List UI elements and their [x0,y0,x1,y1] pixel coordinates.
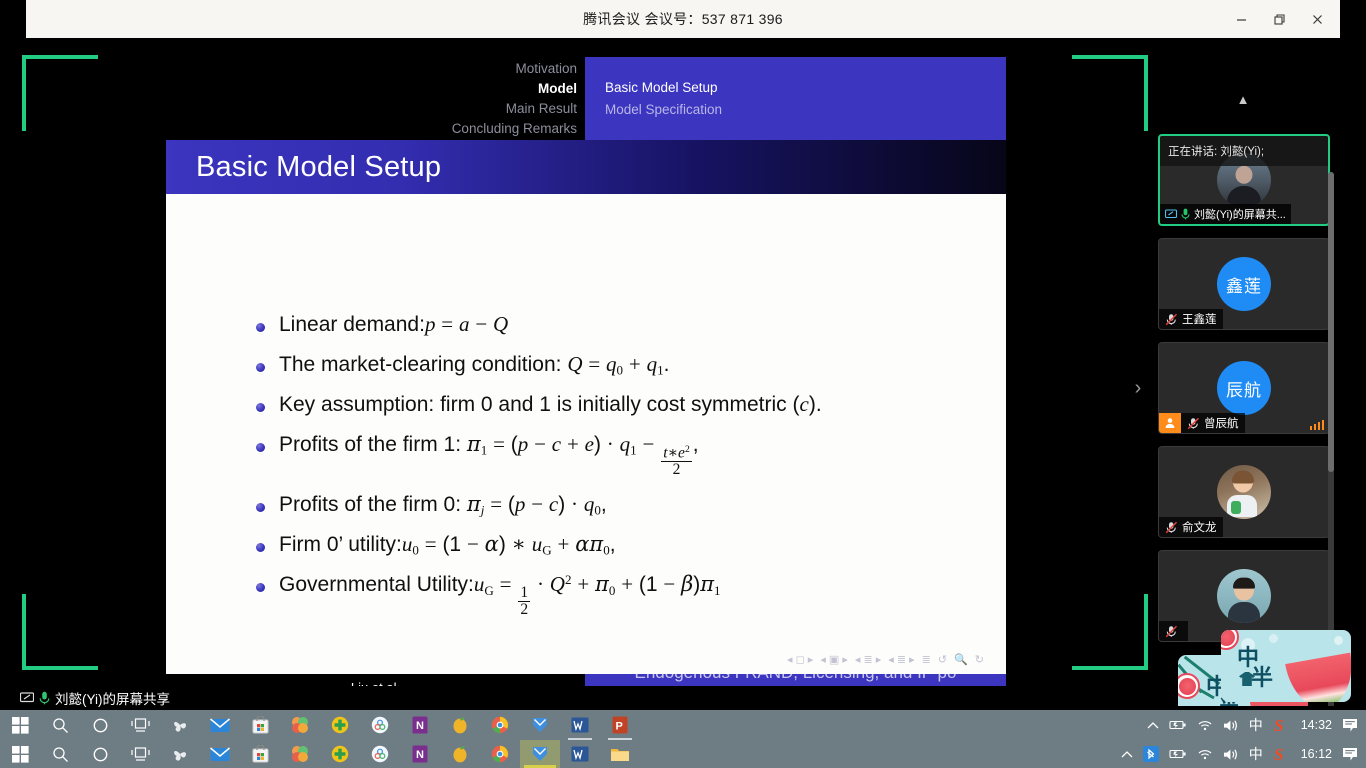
bullet-dot-icon [256,583,265,592]
avatar-initials: 辰航 [1226,376,1262,401]
nav-prev-slide-icon[interactable]: ◂ ≣ ▸ [855,653,881,666]
slide-body: Linear demand:p = a − Q The market-clear… [166,194,1006,674]
slide-navigation-header: Motivation Model Main Result Concluding … [166,57,1006,140]
wifi-icon[interactable] [1197,719,1213,731]
search-icon[interactable] [40,740,80,768]
nav-search-icon[interactable]: 🔍 [954,653,968,666]
start-button-icon[interactable] [0,740,40,768]
participant-tile-5[interactable] [1158,550,1330,642]
slide-section-nav: Motivation Model Main Result Concluding … [166,57,585,140]
speaking-toast-text: 正在讲话: 刘懿(Yi); [1168,143,1264,159]
list-item: Linear demand:p = a − Q [256,312,986,338]
bullet-dot-icon [256,443,265,452]
bullet-text-7: Governmental Utility:uG = 12 · Q2 + π0 +… [279,572,721,618]
bullet-text-6: Firm 0’ utility:u0 = (1 − α) ∗ uG + απ0, [279,532,616,558]
participant-name: 曾辰航 [1204,415,1239,431]
plus-app-icon[interactable] [320,740,360,768]
bullet-dot-icon [256,323,265,332]
photos-app-icon[interactable] [280,740,320,768]
promo-close-icon[interactable] [1334,636,1343,645]
participant-name-bar: 王鑫莲 [1159,309,1223,329]
microphone-icon [1181,208,1190,220]
start-button-icon[interactable] [0,710,40,740]
mango-app-icon[interactable] [440,740,480,768]
avatar-initials: 鑫莲 [1226,272,1262,297]
screen-share-icon [1165,209,1177,220]
microphone-muted-icon [1165,521,1178,534]
participant-name-bar: 俞文龙 [1159,517,1223,537]
nav-item-main-result[interactable]: Main Result [506,99,577,118]
nav-item-concluding-remarks[interactable]: Concluding Remarks [452,119,577,138]
nav-forward-icon[interactable]: ↻ [975,653,984,666]
tray-chevron-up-icon[interactable] [1121,750,1133,759]
list-item: Firm 0’ utility:u0 = (1 − α) ∗ uG + απ0, [256,532,986,558]
atom-app-icon[interactable] [360,710,400,740]
watermelon-graphic [1285,653,1351,702]
slide-title-bar: Basic Model Setup [166,140,1006,194]
screen-share-banner-text: 刘懿(Yi)的屏幕共享 [55,688,170,708]
volume-icon[interactable] [1223,748,1239,761]
sogou-ime-icon[interactable]: S [1273,745,1291,763]
participant-tile-4[interactable]: 俞文龙 [1158,446,1330,538]
window-title-bar: 腾讯会议 会议号：537 871 396 [26,0,1340,38]
speaking-toast: 正在讲话: 刘懿(Yi); [1160,136,1328,166]
outer-system-tray: 中 S 16:12 [1121,740,1366,768]
microphone-muted-icon [1165,625,1178,638]
onenote-app-icon[interactable]: N [400,710,440,740]
window-title: 腾讯会议 会议号：537 871 396 [583,9,783,29]
microphone-muted-icon [1165,313,1178,326]
bullet-dot-icon [256,543,265,552]
outer-taskbar: N [0,740,1366,768]
word-app-icon[interactable] [560,740,600,768]
slide-bullet-list: Linear demand:p = a − Q The market-clear… [256,312,986,632]
chrome-app-icon[interactable] [480,710,520,740]
outer-taskbar-icons: N [0,740,640,768]
volume-icon[interactable] [1223,719,1239,732]
microphone-icon [39,691,50,705]
bullet-text-3: Key assumption: firm 0 and 1 is initiall… [279,392,822,418]
participant-name-bar: 曾辰航 [1181,413,1245,433]
fan-app-icon[interactable] [160,740,200,768]
notifications-icon[interactable] [1342,747,1358,762]
close-icon[interactable] [1298,0,1336,38]
task-view-icon[interactable] [120,710,160,740]
chrome-app-icon[interactable] [480,740,520,768]
avatar: 鑫莲 [1217,257,1271,311]
inner-taskbar-icons: N P [0,710,640,740]
list-item: Key assumption: firm 0 and 1 is initiall… [256,392,986,418]
bullet-dot-icon [256,403,265,412]
avatar [1217,465,1271,519]
inner-taskbar: N P [0,710,1366,740]
nav-item-basic-model-setup[interactable]: Basic Model Setup [605,78,1006,97]
participant-name-bar [1159,621,1188,641]
onenote-app-icon[interactable]: N [400,740,440,768]
store-app-icon[interactable] [240,710,280,740]
store-app-icon[interactable] [240,740,280,768]
microphone-muted-icon [1187,417,1200,430]
atom-app-icon[interactable] [360,740,400,768]
inner-clock[interactable]: 14:32 [1301,718,1332,732]
share-frame-corner-topleft [22,55,98,131]
scroll-up-icon[interactable]: ▲ [1150,86,1336,112]
bullet-text-4: Profits of the firm 1: π1 = (p − c + e) … [279,432,699,478]
screen: 腾讯会议 会议号：537 871 396 [0,0,1366,768]
battery-icon[interactable] [1169,748,1187,760]
nav-first-icon[interactable]: ◂ ◻ ▸ [787,653,813,666]
inner-system-tray: 中 S 14:32 [1147,710,1366,740]
svg-text:S: S [1274,716,1283,734]
chevron-right-icon[interactable]: › [1128,368,1148,408]
participant-tile-2[interactable]: 鑫莲 王鑫莲 [1158,238,1330,330]
participant-rail: ▲ 正在讲话: 刘懿(Yi); [1150,76,1366,706]
share-frame-corner-bottomleft [22,594,98,670]
notifications-icon[interactable] [1342,718,1358,733]
nav-back-icon[interactable]: ↺ [938,653,947,666]
ime-indicator[interactable]: 中 [1249,715,1263,735]
svg-text:P: P [616,721,623,733]
restore-icon[interactable] [1260,0,1298,38]
list-item: Profits of the firm 1: π1 = (p − c + e) … [256,432,986,478]
ime-indicator[interactable]: 中 [1249,744,1263,764]
outer-clock[interactable]: 16:12 [1301,747,1332,761]
participant-name: 俞文龙 [1182,519,1217,535]
list-item: The market-clearing condition: Q = q0 + … [256,352,986,378]
meeting-canvas: Motivation Model Main Result Concluding … [0,38,1366,706]
nav-prev-frame-icon[interactable]: ◂ ▣ ▸ [820,653,848,666]
nav-next-slide-icon[interactable]: ◂ ≣ ▸ [888,653,914,666]
task-view-icon[interactable] [120,740,160,768]
svg-text:N: N [416,720,424,732]
wifi-icon[interactable] [1197,748,1213,760]
bluetooth-icon[interactable] [1143,746,1159,762]
shared-slide: Motivation Model Main Result Concluding … [166,57,1006,700]
mail-app-icon[interactable] [200,740,240,768]
host-badge-icon [1159,413,1181,433]
avatar [1217,569,1271,623]
foxmail-app-icon[interactable] [520,710,560,740]
tray-chevron-up-icon[interactable] [1147,721,1159,730]
powerpoint-app-icon[interactable]: P [600,710,640,740]
share-frame-corner-topright [1072,55,1148,131]
bullet-dot-icon [256,503,265,512]
bullet-dot-icon [256,363,265,372]
fan-app-icon[interactable] [160,710,200,740]
beamer-nav-icons[interactable]: ◂ ◻ ▸ ◂ ▣ ▸ ◂ ≣ ▸ ◂ ≣ ▸ ≣ ↺ 🔍 ↻ [787,653,984,666]
participant-tile-1[interactable]: 正在讲话: 刘懿(Yi); 刘懿(Yi)的屏幕共... [1158,134,1330,226]
nav-last-icon[interactable]: ≣ [922,653,931,666]
battery-icon[interactable] [1169,719,1187,731]
nav-item-model-specification[interactable]: Model Specification [605,100,1006,119]
avatar: 辰航 [1217,361,1271,415]
rail-scrollbar[interactable] [1328,172,1334,706]
signal-strength-icon [1310,420,1325,430]
photos-app-icon[interactable] [280,710,320,740]
search-icon[interactable] [40,710,80,740]
participant-name: 王鑫莲 [1182,311,1217,327]
promo-card-front[interactable]: 中 半 [1221,630,1351,702]
participant-name: 刘懿(Yi)的屏幕共... [1194,206,1286,222]
bullet-text-5: Profits of the firm 0: πj = (p − c) · q0… [279,492,607,518]
window-controls [1222,0,1336,38]
nav-item-model[interactable]: Model [538,79,577,98]
bullet-text-2: The market-clearing condition: Q = q0 + … [279,352,669,378]
cortana-icon[interactable] [80,740,120,768]
minimize-icon[interactable] [1222,0,1260,38]
footer-title-text: Endogenous FRAND, Licensing, and IP po [635,674,957,683]
share-frame-corner-bottomright [1072,594,1148,670]
sogou-ime-icon[interactable]: S [1273,716,1291,734]
plus-app-icon[interactable] [320,710,360,740]
foxmail-app-icon[interactable] [520,740,560,768]
svg-text:S: S [1274,745,1283,763]
share-name-strip: 刘懿(Yi)的屏幕共... [1160,204,1291,224]
bullet-text-1: Linear demand:p = a − Q [279,312,508,338]
slide-subsection-nav: Basic Model Setup Model Specification [585,57,1006,140]
screen-share-icon [20,692,34,705]
slide-title-text: Basic Model Setup [196,151,441,184]
list-item: Governmental Utility:uG = 12 · Q2 + π0 +… [256,572,986,618]
screen-share-banner: 刘懿(Yi)的屏幕共享 [0,686,1150,710]
word-app-icon[interactable] [560,710,600,740]
mail-app-icon[interactable] [200,710,240,740]
participant-tile-3[interactable]: 辰航 曾辰航 [1158,342,1330,434]
cortana-icon[interactable] [80,710,120,740]
list-item: Profits of the firm 0: πj = (p − c) · q0… [256,492,986,518]
mango-app-icon[interactable] [440,710,480,740]
svg-text:N: N [416,749,424,761]
file-explorer-icon[interactable] [600,740,640,768]
nav-item-motivation[interactable]: Motivation [515,59,577,78]
